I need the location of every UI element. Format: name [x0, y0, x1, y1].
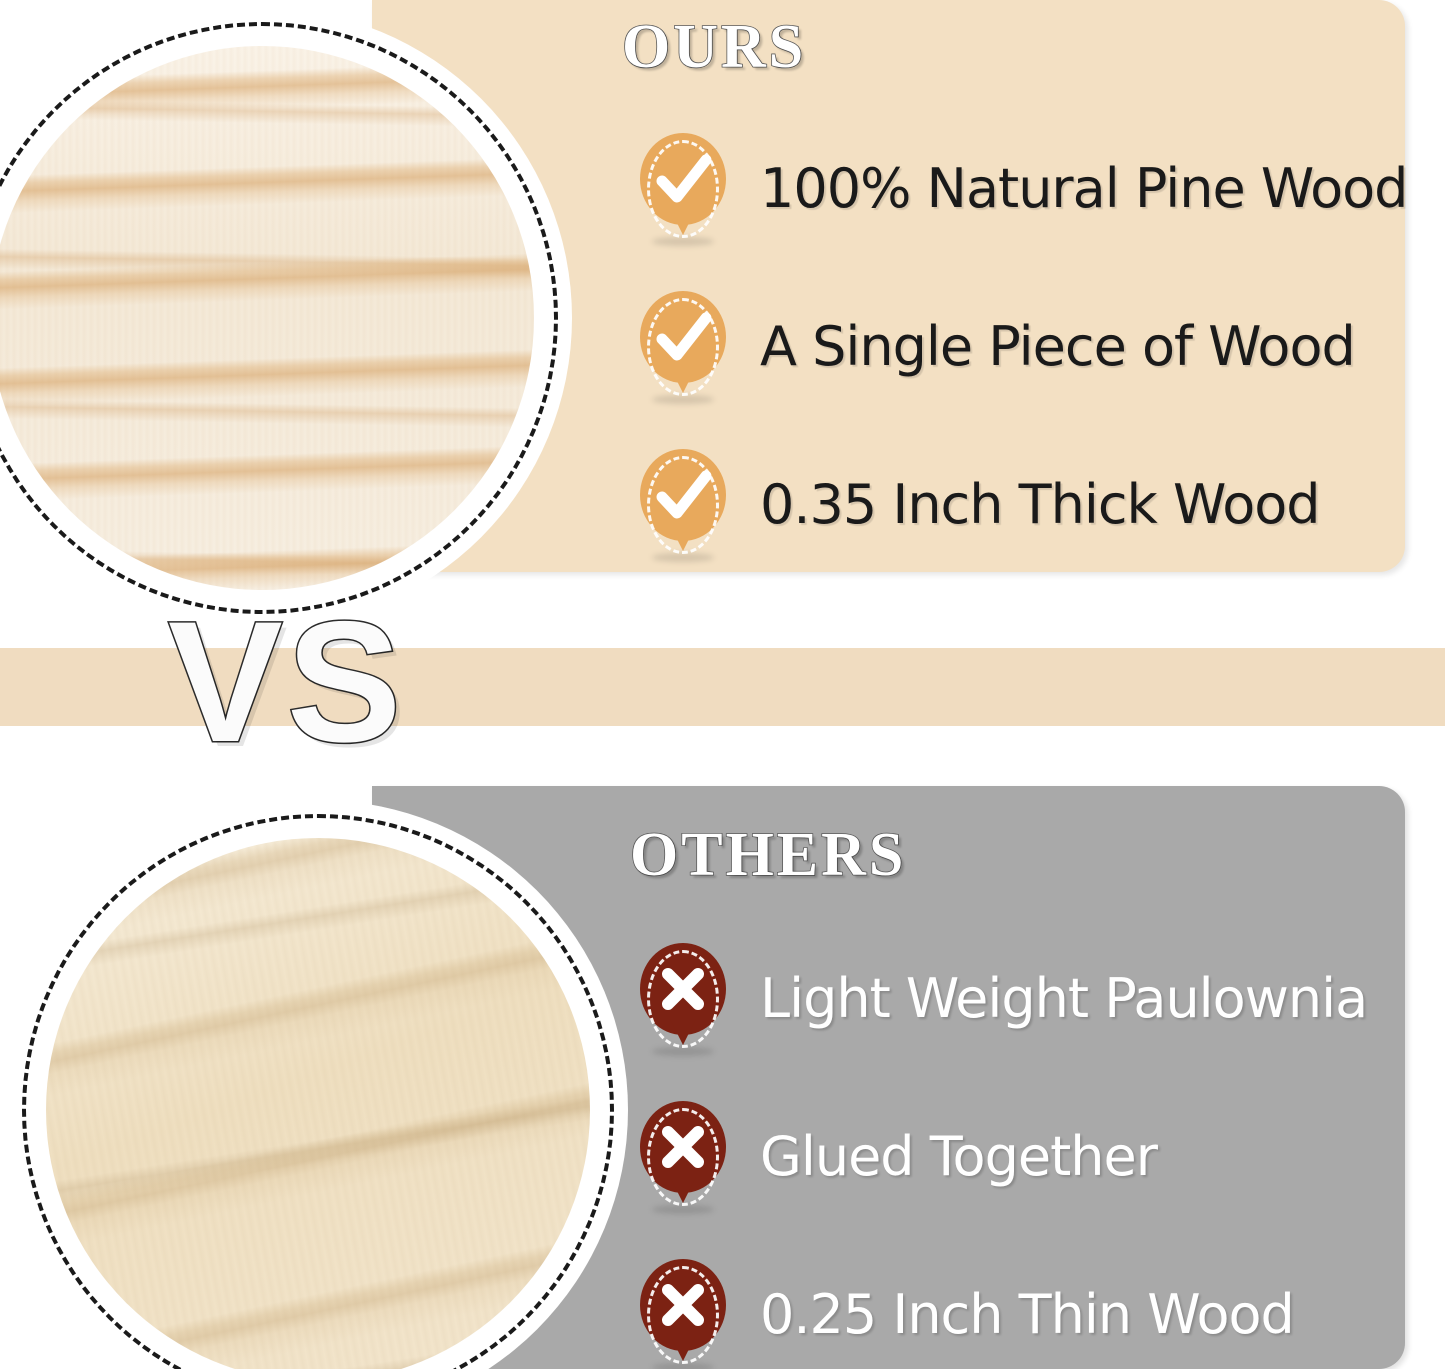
cross-icon [640, 1259, 726, 1369]
dashed-circle-outline [22, 814, 614, 1369]
ours-feature-list: 100% Natural Pine Wood A Single Piece of… [640, 110, 1400, 584]
dashed-circle-outline [0, 22, 558, 614]
badge-shadow [652, 237, 714, 246]
checkmark-glyph [640, 133, 726, 225]
check-icon [640, 449, 726, 561]
check-icon [640, 291, 726, 403]
vs-label: VS [168, 596, 405, 768]
list-item: 0.25 Inch Thin Wood [640, 1236, 1400, 1369]
cross-icon [640, 1101, 726, 1213]
cross-icon [640, 943, 726, 1055]
feature-label: 0.35 Inch Thick Wood [760, 475, 1320, 535]
list-item: Glued Together [640, 1078, 1400, 1236]
badge-shadow [652, 395, 714, 404]
cross-glyph [640, 1259, 726, 1351]
feature-label: Light Weight Paulownia [760, 969, 1367, 1029]
comparison-infographic: OURS 100% Natural Pine Wood [0, 0, 1445, 1369]
cross-glyph [640, 1101, 726, 1193]
feature-label: 100% Natural Pine Wood [760, 159, 1407, 219]
feature-label: Glued Together [760, 1127, 1157, 1187]
check-icon [640, 133, 726, 245]
list-item: 100% Natural Pine Wood [640, 110, 1400, 268]
others-title: OTHERS [630, 824, 906, 886]
feature-label: 0.25 Inch Thin Wood [760, 1285, 1294, 1345]
cross-glyph [640, 943, 726, 1035]
badge-shadow [652, 1205, 714, 1214]
list-item: A Single Piece of Wood [640, 268, 1400, 426]
others-feature-list: Light Weight Paulownia Glued Together [640, 920, 1400, 1369]
list-item: Light Weight Paulownia [640, 920, 1400, 1078]
checkmark-glyph [640, 449, 726, 541]
checkmark-glyph [640, 291, 726, 383]
feature-label: A Single Piece of Wood [760, 317, 1355, 377]
badge-shadow [652, 553, 714, 562]
ours-title: OURS [622, 16, 806, 78]
badge-shadow [652, 1047, 714, 1056]
list-item: 0.35 Inch Thick Wood [640, 426, 1400, 584]
